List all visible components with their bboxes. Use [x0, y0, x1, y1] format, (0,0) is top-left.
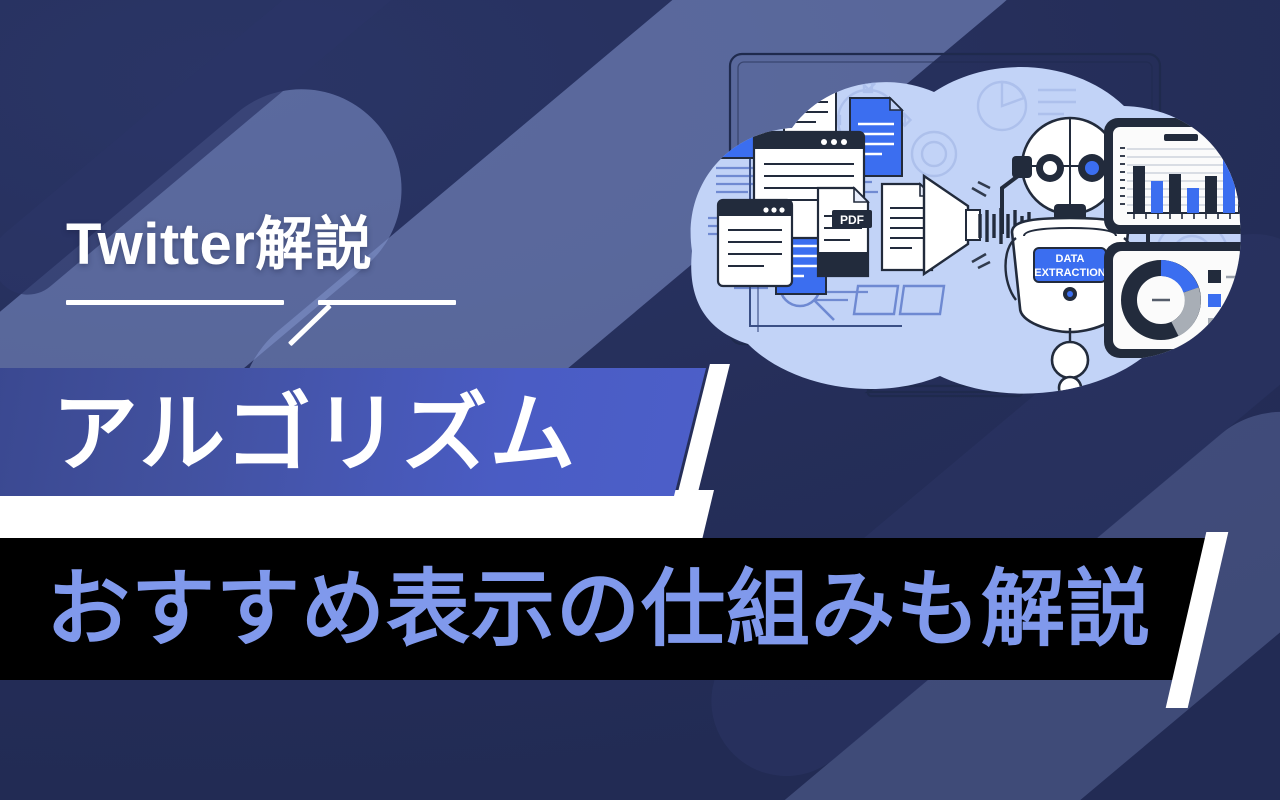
kicker-underline-right	[318, 300, 456, 305]
data-extraction-illustration: PDF	[672, 36, 1272, 416]
headline-primary-text: アルゴリズム	[52, 374, 577, 494]
kicker-underline-left	[66, 300, 284, 305]
robot-label-line1: DATA	[1056, 253, 1085, 265]
headline-secondary-text: おすすめ表示の仕組みも解説	[46, 538, 1151, 680]
robot-label-line2: EXTRACTION	[1034, 267, 1106, 279]
browser-window-2	[718, 200, 792, 286]
donut-chart-panel	[1104, 242, 1256, 358]
document-blue-1	[706, 84, 758, 158]
headline-secondary-band: おすすめ表示の仕組みも解説	[0, 538, 1280, 698]
headline-primary-band: アルゴリズム	[0, 368, 730, 518]
pdf-file: PDF	[818, 188, 872, 276]
banner-canvas: PDF	[0, 0, 1280, 800]
kicker-underline	[66, 294, 456, 324]
bar-chart-panel	[1104, 118, 1256, 234]
kicker-block: Twitter解説	[66, 216, 666, 324]
document-white-1	[784, 68, 836, 142]
kicker-text: Twitter解説	[66, 216, 666, 274]
pdf-label: PDF	[840, 213, 864, 227]
